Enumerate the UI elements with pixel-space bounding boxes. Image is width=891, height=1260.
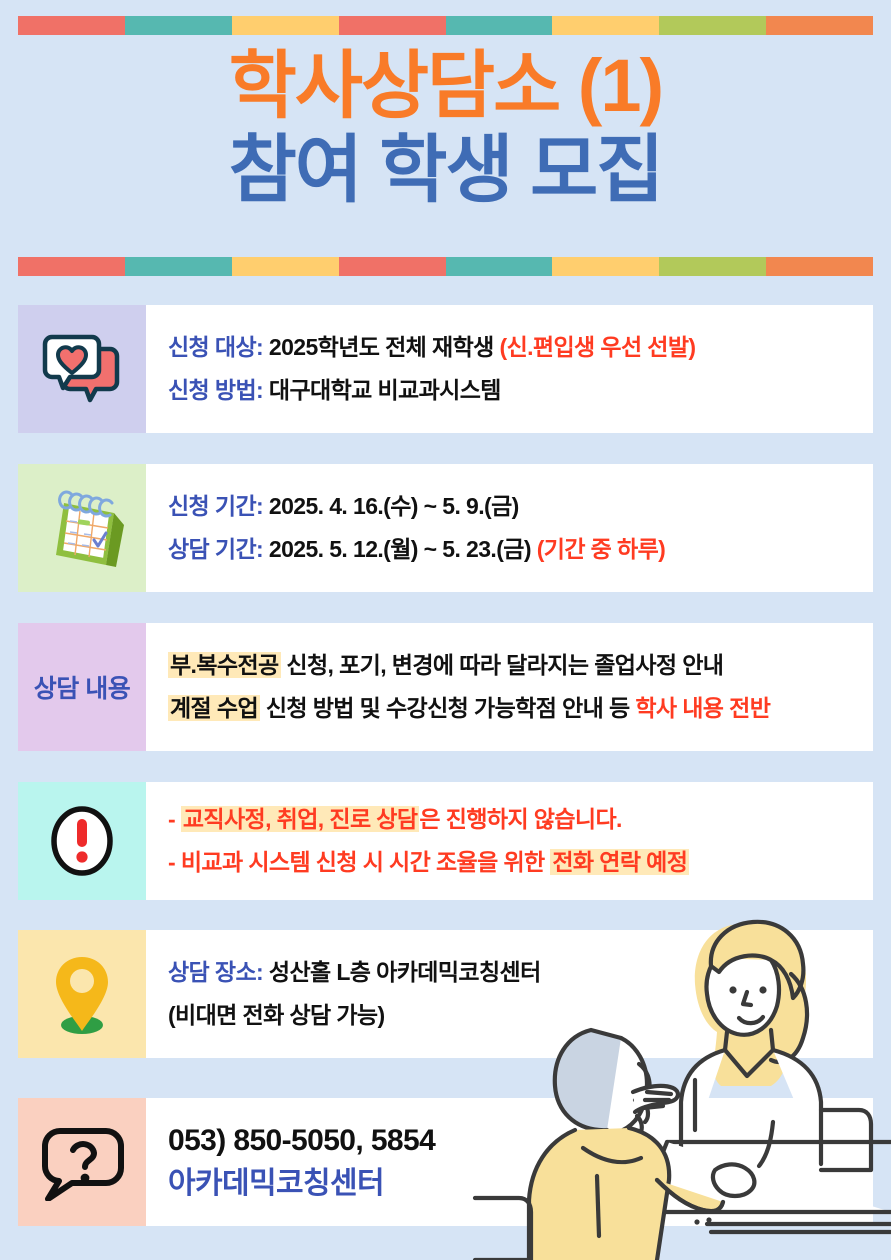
dash-notice-excluded: - (168, 806, 181, 832)
note-topic-season: 학사 내용 전반 (635, 695, 770, 721)
stripe-segment-4 (446, 16, 553, 35)
line-topic-major: 부.복수전공 신청, 포기, 변경에 따라 달라지는 졸업사정 안내 (168, 650, 873, 681)
icon-panel-chat-heart (18, 305, 146, 433)
label-apply-period: 신청 기간: (168, 493, 263, 519)
dash-notice-call: - (168, 849, 181, 875)
stripe-segment-6 (659, 257, 766, 276)
highlight-notice-excluded: 교직사정, 취업, 진로 상담 (181, 806, 420, 832)
chat-heart-icon (40, 331, 124, 407)
line-contact-center: 아카데믹코칭센터 (168, 1168, 873, 1199)
value-location-place: 성산홀 L층 아카데믹코칭센터 (269, 959, 541, 985)
info-row-application: 신청 대상: 2025학년도 전체 재학생 (신.편입생 우선 선발) 신청 방… (18, 305, 873, 433)
value-location-note: (비대면 전화 상담 가능) (168, 1002, 385, 1028)
value-consult-period: 2025. 5. 12.(월) ~ 5. 23.(금) (269, 536, 531, 562)
line-location-place: 상담 장소: 성산홀 L층 아카데믹코칭센터 (168, 957, 873, 988)
icon-panel-calendar (18, 464, 146, 592)
line-application-method: 신청 방법: 대구대학교 비교과시스템 (168, 375, 873, 406)
line-notice-excluded: - 교직사정, 취업, 진로 상담은 진행하지 않습니다. (168, 804, 873, 835)
row-content: - 교직사정, 취업, 진로 상담은 진행하지 않습니다. - 비교과 시스템 … (146, 782, 873, 900)
info-row-contact: 053) 850-5050, 5854 아카데믹코칭센터 (18, 1098, 873, 1226)
poster-title: 학사상담소 (1) 참여 학생 모집 (0, 44, 891, 212)
title-line-1: 학사상담소 (1) (0, 44, 891, 128)
line-apply-period: 신청 기간: 2025. 4. 16.(수) ~ 5. 9.(금) (168, 491, 873, 522)
value-notice-call: 비교과 시스템 신청 시 시간 조율을 위한 (181, 849, 551, 875)
question-bubble-icon (40, 1123, 124, 1201)
stripe-segment-4 (446, 257, 553, 276)
stripe-segment-6 (659, 16, 766, 35)
side-label-topics: 상담 내용 (34, 669, 130, 705)
stripe-segment-5 (552, 257, 659, 276)
note-application-target: (신.편입생 우선 선발) (500, 334, 696, 360)
label-location-place: 상담 장소: (168, 959, 263, 985)
line-location-note: (비대면 전화 상담 가능) (168, 1000, 873, 1031)
icon-panel-question (18, 1098, 146, 1226)
value-application-method: 대구대학교 비교과시스템 (269, 377, 501, 403)
line-topic-season: 계절 수업 신청 방법 및 수강신청 가능학점 안내 등 학사 내용 전반 (168, 693, 873, 724)
stripe-segment-2 (232, 16, 339, 35)
label-consult-period: 상담 기간: (168, 536, 263, 562)
stripe-segment-1 (125, 16, 232, 35)
value-apply-period: 2025. 4. 16.(수) ~ 5. 9.(금) (269, 493, 519, 519)
bottom-color-stripe (18, 257, 873, 276)
stripe-segment-3 (339, 16, 446, 35)
line-notice-call: - 비교과 시스템 신청 시 시간 조율을 위한 전화 연락 예정 (168, 847, 873, 878)
icon-panel-topics-label: 상담 내용 (18, 623, 146, 751)
info-row-notice: - 교직사정, 취업, 진로 상담은 진행하지 않습니다. - 비교과 시스템 … (18, 782, 873, 900)
exclamation-icon (47, 804, 117, 878)
row-content: 신청 대상: 2025학년도 전체 재학생 (신.편입생 우선 선발) 신청 방… (146, 305, 873, 433)
location-pin-icon (49, 951, 115, 1037)
line-consult-period: 상담 기간: 2025. 5. 12.(월) ~ 5. 23.(금) (기간 중… (168, 534, 873, 565)
calendar-icon (34, 485, 130, 571)
icon-panel-exclamation (18, 782, 146, 900)
line-application-target: 신청 대상: 2025학년도 전체 재학생 (신.편입생 우선 선발) (168, 332, 873, 363)
poster-root: 학사상담소 (1) 참여 학생 모집 신청 대상: 2025학년도 전체 재학생… (0, 0, 891, 1260)
highlight-notice-call: 전화 연락 예정 (550, 849, 689, 875)
row-content: 상담 장소: 성산홀 L층 아카데믹코칭센터 (비대면 전화 상담 가능) (146, 930, 873, 1058)
note-consult-period: (기간 중 하루) (537, 536, 666, 562)
stripe-segment-2 (232, 257, 339, 276)
info-row-location: 상담 장소: 성산홀 L층 아카데믹코칭센터 (비대면 전화 상담 가능) (18, 930, 873, 1058)
stripe-segment-7 (766, 257, 873, 276)
row-content: 신청 기간: 2025. 4. 16.(수) ~ 5. 9.(금) 상담 기간:… (146, 464, 873, 592)
stripe-segment-3 (339, 257, 446, 276)
value-topic-season: 신청 방법 및 수강신청 가능학점 안내 등 (260, 695, 635, 721)
label-application-target: 신청 대상: (168, 334, 263, 360)
highlight-topic-season: 계절 수업 (168, 695, 260, 721)
title-line-2: 참여 학생 모집 (0, 128, 891, 212)
value-notice-excluded: 은 진행하지 않습니다. (419, 806, 621, 832)
value-topic-major: 신청, 포기, 변경에 따라 달라지는 졸업사정 안내 (281, 652, 724, 678)
value-application-target: 2025학년도 전체 재학생 (269, 334, 494, 360)
stripe-segment-5 (552, 16, 659, 35)
info-row-topics: 상담 내용 부.복수전공 신청, 포기, 변경에 따라 달라지는 졸업사정 안내… (18, 623, 873, 751)
row-content: 053) 850-5050, 5854 아카데믹코칭센터 (146, 1098, 873, 1226)
top-color-stripe (18, 16, 873, 35)
stripe-segment-0 (18, 16, 125, 35)
info-row-period: 신청 기간: 2025. 4. 16.(수) ~ 5. 9.(금) 상담 기간:… (18, 464, 873, 592)
icon-panel-location (18, 930, 146, 1058)
label-application-method: 신청 방법: (168, 377, 263, 403)
highlight-topic-major: 부.복수전공 (168, 652, 281, 678)
stripe-segment-7 (766, 16, 873, 35)
line-contact-phone: 053) 850-5050, 5854 (168, 1125, 873, 1156)
row-content: 부.복수전공 신청, 포기, 변경에 따라 달라지는 졸업사정 안내 계절 수업… (146, 623, 873, 751)
stripe-segment-1 (125, 257, 232, 276)
stripe-segment-0 (18, 257, 125, 276)
